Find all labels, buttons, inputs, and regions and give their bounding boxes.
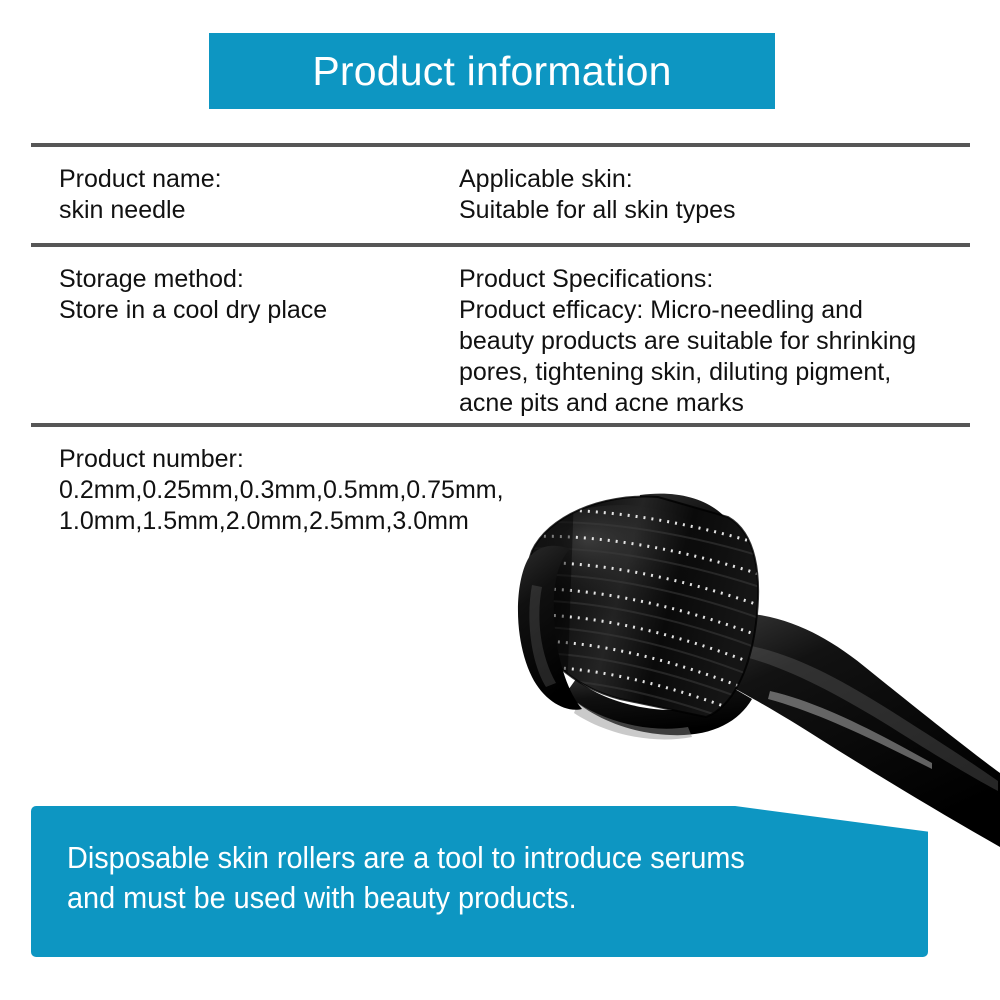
specification-table: Product name: skin needle Applicable ski… — [31, 143, 970, 567]
footer-banner: Disposable skin rollers are a tool to in… — [31, 806, 928, 957]
applicable-skin-value: Suitable for all skin types — [459, 195, 970, 226]
storage-method-value: Store in a cool dry place — [59, 295, 459, 326]
cell-applicable-skin: Applicable skin: Suitable for all skin t… — [459, 147, 970, 226]
product-specifications-line: beauty products are suitable for shrinki… — [459, 326, 970, 357]
table-row: Storage method: Store in a cool dry plac… — [31, 247, 970, 423]
product-number-line: 0.2mm,0.25mm,0.3mm,0.5mm,0.75mm, — [59, 475, 970, 506]
product-name-label: Product name: — [59, 164, 459, 195]
product-specifications-line: pores, tightening skin, diluting pigment… — [459, 357, 970, 388]
product-specifications-line: acne pits and acne marks — [459, 388, 970, 419]
cell-product-number: Product number: 0.2mm,0.25mm,0.3mm,0.5mm… — [31, 427, 970, 537]
cell-product-name: Product name: skin needle — [31, 147, 459, 226]
page-title: Product information — [312, 51, 671, 92]
footer-line: Disposable skin rollers are a tool to in… — [67, 838, 848, 878]
applicable-skin-label: Applicable skin: — [459, 164, 970, 195]
roller-drum-cap — [518, 546, 582, 710]
product-specifications-label: Product Specifications: — [459, 264, 970, 295]
footer-line: and must be used with beauty products. — [67, 878, 848, 918]
product-number-line: 1.0mm,1.5mm,2.0mm,2.5mm,3.0mm — [59, 506, 970, 537]
product-specifications-line: Product efficacy: Micro-needling and — [459, 295, 970, 326]
cell-storage-method: Storage method: Store in a cool dry plac… — [31, 247, 459, 326]
header-banner: Product information — [209, 33, 775, 109]
table-row: Product number: 0.2mm,0.25mm,0.3mm,0.5mm… — [31, 427, 970, 567]
table-row: Product name: skin needle Applicable ski… — [31, 147, 970, 243]
cell-product-specifications: Product Specifications: Product efficacy… — [459, 247, 970, 419]
product-information-infographic: Product information Product name: skin n… — [0, 0, 1000, 1000]
product-number-label: Product number: — [59, 444, 970, 475]
footer-text: Disposable skin rollers are a tool to in… — [67, 838, 848, 918]
product-name-value: skin needle — [59, 195, 459, 226]
storage-method-label: Storage method: — [59, 264, 459, 295]
roller-fork-lower — [566, 679, 752, 735]
